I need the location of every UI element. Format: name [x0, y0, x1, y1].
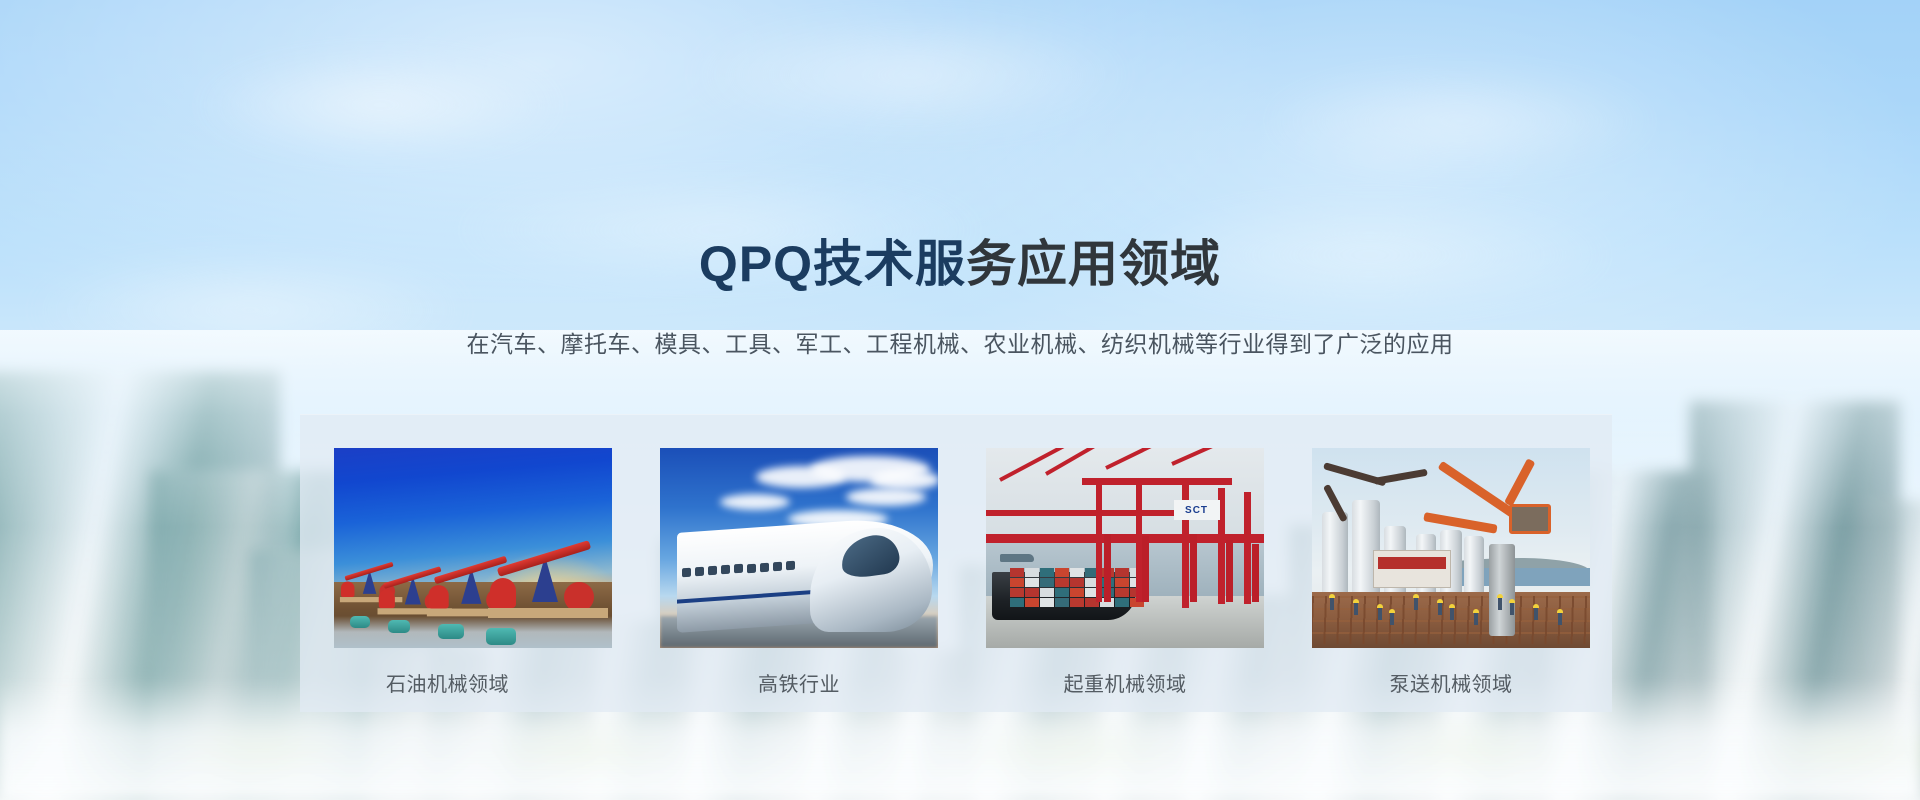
train-window: [773, 561, 782, 571]
worker: [1558, 613, 1562, 625]
shipping-container: [1115, 588, 1129, 597]
shipping-container: [1010, 568, 1024, 577]
worker: [1354, 603, 1358, 615]
hard-hat: [1377, 604, 1383, 608]
shipping-container: [1025, 588, 1039, 597]
hard-hat: [1353, 599, 1359, 603]
card-oil-machinery[interactable]: 石油机械领域: [334, 448, 612, 697]
concrete-pumping-image: [1312, 448, 1590, 648]
card-high-speed-rail[interactable]: 高铁行业: [660, 448, 938, 697]
worker: [1414, 598, 1418, 610]
train-window: [695, 567, 704, 577]
worker: [1510, 603, 1514, 615]
oil-pumpjacks-image: [334, 448, 612, 648]
cloud: [870, 470, 938, 490]
hard-hat: [1473, 609, 1479, 613]
card-label: 石油机械领域: [334, 668, 612, 697]
shipping-container: [1115, 568, 1129, 577]
small-boat: [1000, 554, 1034, 562]
train-window: [760, 562, 769, 572]
card-label: 泵送机械领域: [1312, 668, 1590, 697]
shipping-container: [1040, 588, 1054, 597]
hard-hat: [1449, 604, 1455, 608]
page-subtitle: 在汽车、摩托车、模具、工具、军工、工程机械、农业机械、纺织机械等行业得到了广泛的…: [0, 325, 1920, 359]
cloud: [720, 494, 790, 510]
hard-hat: [1413, 594, 1419, 598]
card-label: 高铁行业: [660, 668, 938, 697]
shipping-container: [1025, 598, 1039, 607]
pump-tower: [1489, 544, 1515, 636]
wellhead-valve: [388, 620, 410, 633]
cards-panel: 石油机械领域 高铁行业: [300, 414, 1612, 712]
crane-beam: [1244, 492, 1251, 604]
worker: [1390, 613, 1394, 625]
hero-content: QPQ技术服务应用领域 在汽车、摩托车、模具、工具、军工、工程机械、农业机械、纺…: [0, 0, 1920, 800]
worker: [1498, 598, 1502, 610]
site-banner: [1373, 550, 1451, 588]
wellhead-valve: [486, 628, 516, 645]
worker: [1474, 613, 1478, 625]
hard-hat: [1533, 604, 1539, 608]
crane-leg: [1104, 534, 1111, 602]
operator-cab: [1509, 504, 1551, 534]
shipping-container: [1010, 588, 1024, 597]
wellhead-valve: [350, 616, 370, 628]
crane-leg: [1252, 544, 1259, 602]
worker: [1330, 598, 1334, 610]
crane-leg: [1142, 536, 1149, 602]
worker: [1438, 603, 1442, 615]
shipping-container: [1040, 568, 1054, 577]
card-label: 起重机械领域: [986, 668, 1264, 697]
hard-hat: [1389, 609, 1395, 613]
page-title: QPQ技术服务应用领域: [0, 224, 1920, 296]
crane-leg: [1190, 534, 1197, 602]
crane-beam: [986, 510, 1196, 516]
cement-silo: [1322, 512, 1348, 596]
wellhead-valve: [438, 624, 464, 639]
shipping-container: [1010, 578, 1024, 587]
hard-hat: [1437, 599, 1443, 603]
hard-hat: [1497, 594, 1503, 598]
train-window: [747, 563, 756, 573]
high-speed-train-image: [660, 448, 938, 648]
shipping-container: [1025, 578, 1039, 587]
crane-leg: [1226, 540, 1233, 602]
shipping-container: [1070, 578, 1084, 587]
train-window: [708, 566, 717, 576]
hard-hat: [1557, 609, 1563, 613]
shipping-container: [1040, 598, 1054, 607]
worker: [1534, 608, 1538, 620]
hard-hat: [1509, 599, 1515, 603]
shipping-container: [1025, 568, 1039, 577]
card-pumping-machinery[interactable]: 泵送机械领域: [1312, 448, 1590, 697]
scf-logo: SCT: [1174, 500, 1220, 520]
port-cranes-image: SCT: [986, 448, 1264, 648]
crane-beam: [1182, 478, 1189, 608]
shipping-container: [1055, 588, 1069, 597]
snow-patch: [334, 616, 612, 648]
shipping-container: [1115, 598, 1129, 607]
train-window: [734, 564, 743, 574]
shipping-container: [1055, 598, 1069, 607]
train-window: [682, 568, 691, 578]
cement-silo: [1464, 536, 1484, 596]
shipping-container: [1040, 578, 1054, 587]
page-title-tail: 务应用领域: [966, 236, 1221, 292]
crane-beam: [1096, 482, 1102, 602]
worker: [1378, 608, 1382, 620]
shipping-container: [1115, 578, 1129, 587]
shipping-container: [1070, 598, 1084, 607]
page-title-main: QPQ技术服: [699, 236, 966, 292]
shipping-container: [1070, 568, 1084, 577]
train-window: [786, 560, 795, 570]
shipping-container: [1010, 598, 1024, 607]
shipping-container: [1070, 588, 1084, 597]
cards-list: 石油机械领域 高铁行业: [334, 448, 1590, 697]
worker: [1450, 608, 1454, 620]
shipping-container: [1055, 578, 1069, 587]
crane-beam: [1082, 478, 1232, 485]
train-window: [721, 565, 730, 575]
shipping-container: [1055, 568, 1069, 577]
hard-hat: [1329, 594, 1335, 598]
cloud: [846, 488, 926, 506]
card-lifting-machinery[interactable]: SCT 起重机械领域: [986, 448, 1264, 697]
